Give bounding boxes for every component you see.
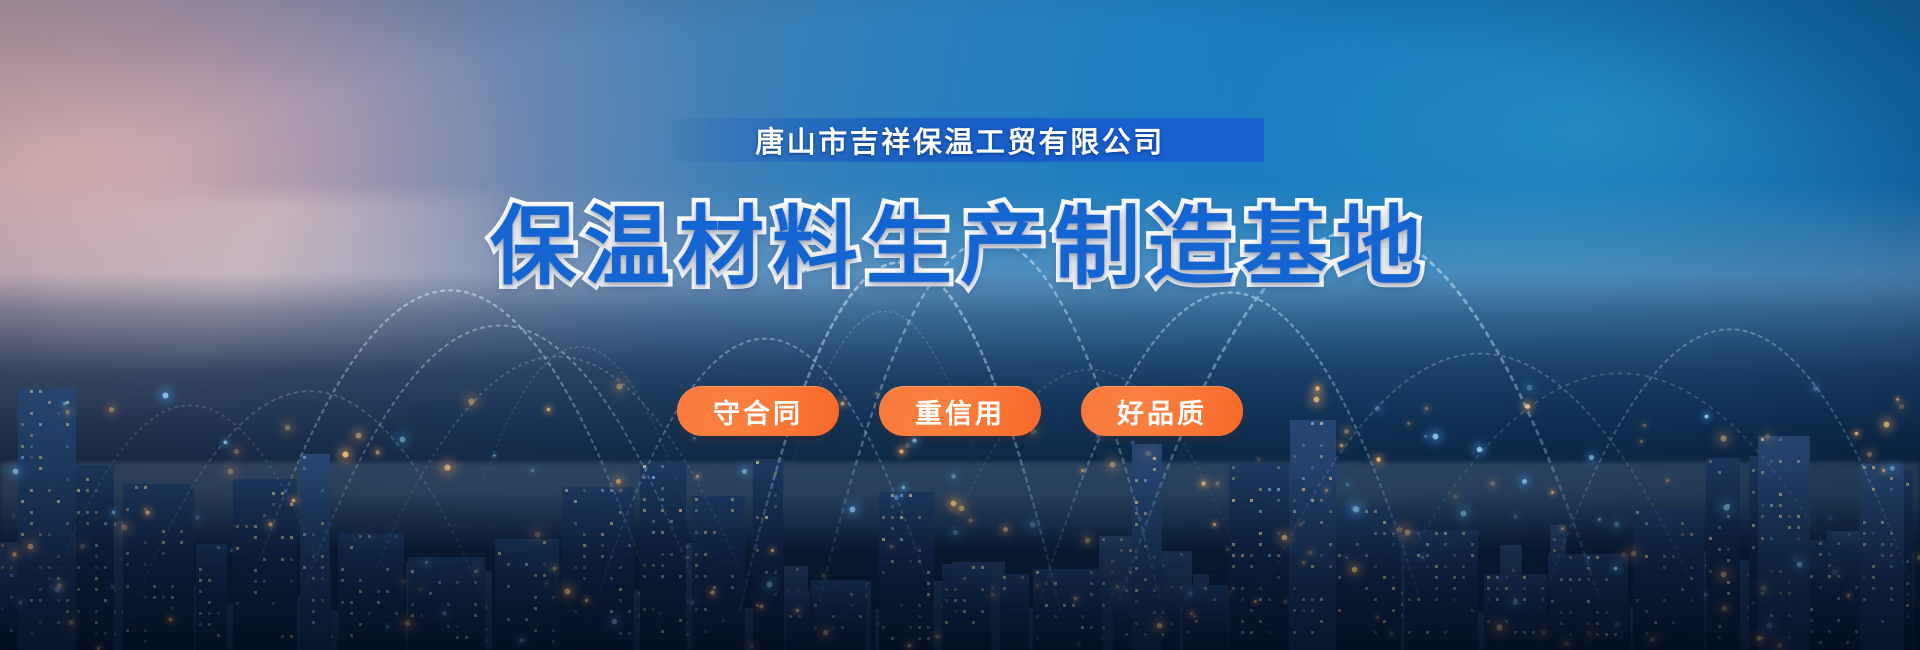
- hero-banner: 唐山市吉祥保温工贸有限公司 保温材料生产制造基地 守合同 重信用 好品质: [0, 0, 1920, 650]
- badge-row: 守合同 重信用 好品质: [0, 386, 1920, 436]
- company-name-bar: 唐山市吉祥保温工贸有限公司: [656, 118, 1264, 162]
- company-name: 唐山市吉祥保温工贸有限公司: [755, 119, 1165, 161]
- headline-text: 保温材料生产制造基地: [490, 176, 1430, 301]
- headline-wrap: 保温材料生产制造基地: [0, 176, 1920, 301]
- badge-shou-he-tong[interactable]: 守合同: [677, 386, 839, 436]
- badge-hao-pin-zhi[interactable]: 好品质: [1081, 386, 1243, 436]
- badge-zhong-xin-yong[interactable]: 重信用: [879, 386, 1041, 436]
- banner-content: 唐山市吉祥保温工贸有限公司 保温材料生产制造基地 守合同 重信用 好品质: [0, 0, 1920, 650]
